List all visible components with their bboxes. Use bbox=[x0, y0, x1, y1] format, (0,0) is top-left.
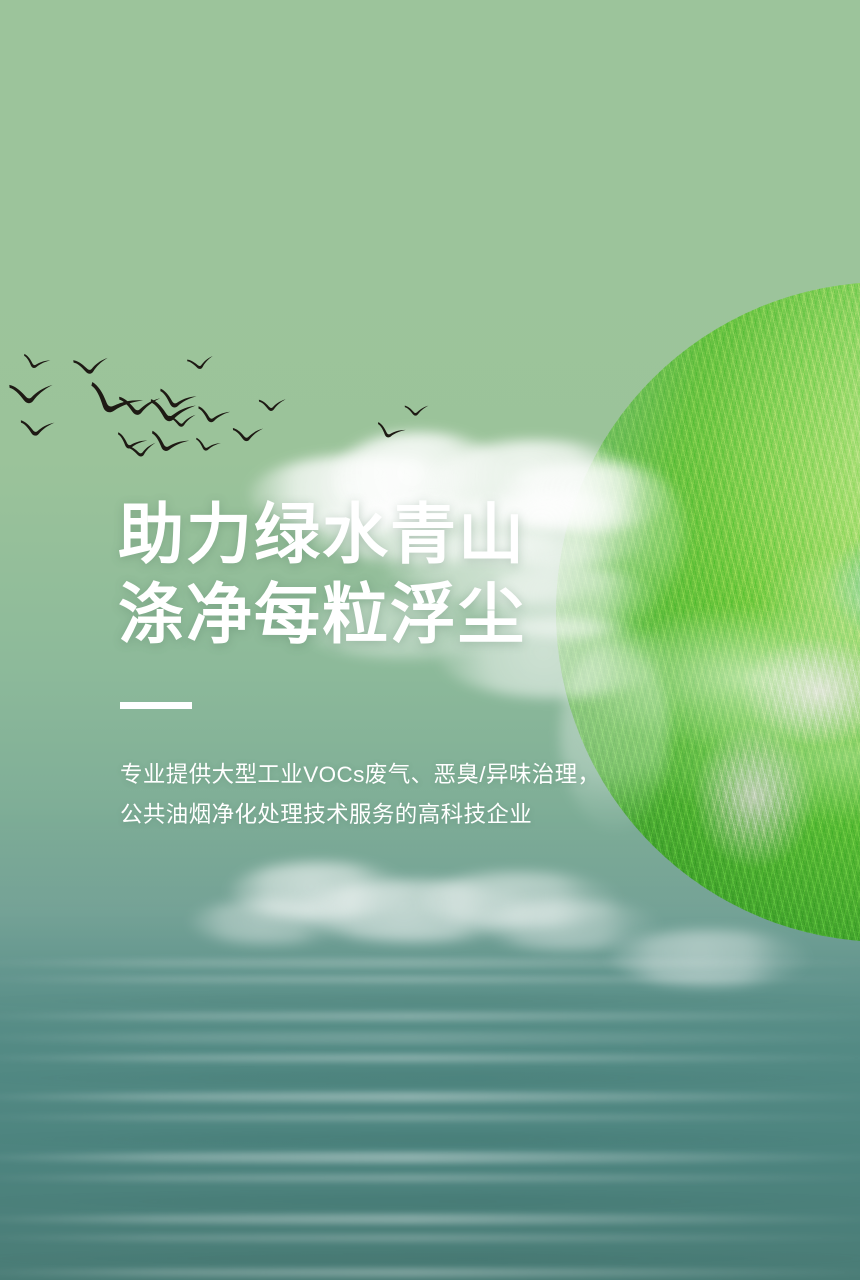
water-ripple bbox=[0, 994, 860, 1008]
copy-block: 助力绿水青山 涤净每粒浮尘 专业提供大型工业VOCs废气、恶臭/异味治理， 公共… bbox=[118, 494, 678, 835]
headline-line-2: 涤净每粒浮尘 bbox=[118, 574, 678, 654]
headline-line-1: 助力绿水青山 bbox=[118, 494, 678, 574]
subtitle-line-1: 专业提供大型工业VOCs废气、恶臭/异味治理， bbox=[120, 755, 678, 795]
poster-banner: 助力绿水青山 涤净每粒浮尘 专业提供大型工业VOCs废气、恶臭/异味治理， 公共… bbox=[0, 0, 860, 1280]
water-ripple bbox=[0, 1054, 860, 1062]
water-ripple bbox=[0, 1268, 860, 1277]
water-surface bbox=[0, 950, 860, 1280]
water-ripple bbox=[0, 1252, 860, 1265]
water-ripple bbox=[0, 1234, 860, 1242]
water-ripple bbox=[0, 958, 860, 968]
headline-divider-rule bbox=[120, 702, 192, 709]
water-ripple bbox=[0, 1070, 860, 1086]
water-ripple bbox=[0, 1214, 860, 1224]
water-ripple bbox=[0, 1114, 860, 1121]
water-ripple bbox=[0, 1092, 860, 1102]
subtitle-line-2: 公共油烟净化处理技术服务的高科技企业 bbox=[120, 795, 678, 835]
water-ripple bbox=[0, 1174, 860, 1182]
water-ripple bbox=[0, 1132, 860, 1146]
water-ripple bbox=[0, 1032, 860, 1044]
water-ripple bbox=[0, 1152, 860, 1163]
water-ripple bbox=[0, 976, 860, 983]
water-ripple bbox=[0, 1194, 860, 1209]
water-ripple bbox=[0, 1012, 860, 1021]
